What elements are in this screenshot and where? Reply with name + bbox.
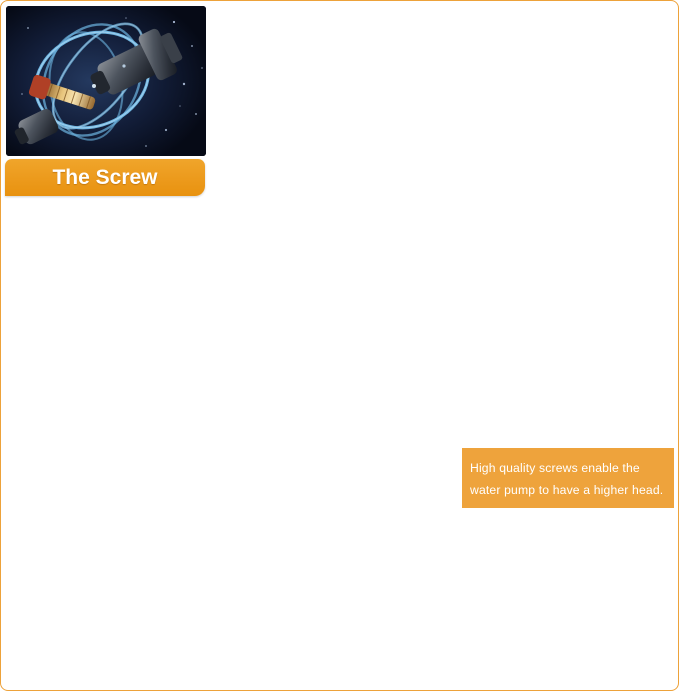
screw-panel-frame: The Screw	[0, 0, 679, 691]
panel-screw[interactable]: The Screw	[0, 0, 212, 200]
screw-panel-badge-label: The Screw	[52, 166, 157, 190]
screw-energy-image	[6, 6, 206, 156]
screw-caption: High quality screws enable the water pum…	[462, 448, 674, 508]
infographic-canvas: JENENSERIES High-quality Material	[0, 0, 679, 691]
screw-panel-badge[interactable]: The Screw	[5, 159, 205, 196]
